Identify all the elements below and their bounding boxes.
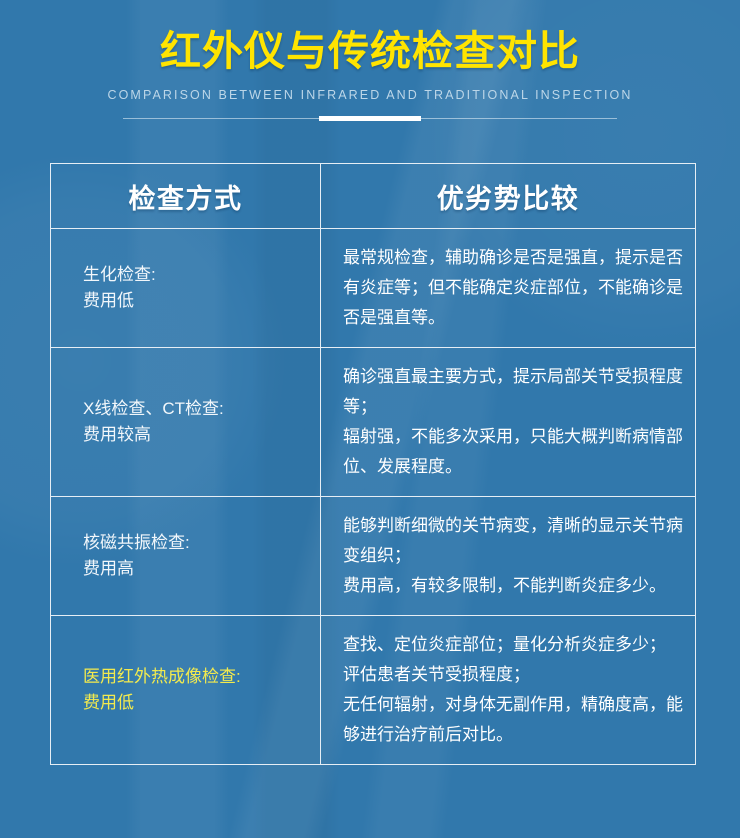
cell-method: 生化检查:费用低: [51, 229, 321, 348]
page-header: 红外仪与传统检查对比 COMPARISON BETWEEN INFRARED A…: [0, 0, 740, 121]
pros-line: 查找、定位炎症部位；量化分析炎症多少；: [343, 630, 683, 660]
pros-line: 费用高，有较多限制，不能判断炎症多少。: [343, 571, 683, 601]
comparison-table-container: 检查方式 优劣势比较 生化检查:费用低最常规检查，辅助确诊是否是强直，提示是否有…: [50, 163, 695, 765]
method-line: X线检查、CT检查:: [83, 396, 320, 422]
cell-pros-cons: 查找、定位炎症部位；量化分析炎症多少；评估患者关节受损程度；无任何辐射，对身体无…: [321, 616, 696, 765]
comparison-table: 检查方式 优劣势比较 生化检查:费用低最常规检查，辅助确诊是否是强直，提示是否有…: [50, 163, 696, 765]
pros-line: 评估患者关节受损程度；: [343, 660, 683, 690]
cell-method: 核磁共振检查:费用高: [51, 497, 321, 616]
cell-method: X线检查、CT检查:费用较高: [51, 348, 321, 497]
pros-line: 无任何辐射，对身体无副作用，精确度高，能够进行治疗前后对比。: [343, 690, 683, 750]
page-title: 红外仪与传统检查对比: [0, 26, 740, 76]
column-header-pros-cons: 优劣势比较: [321, 164, 696, 229]
page-subtitle: COMPARISON BETWEEN INFRARED AND TRADITIO…: [0, 87, 740, 103]
table-body: 生化检查:费用低最常规检查，辅助确诊是否是强直，提示是否有炎症等；但不能确定炎症…: [51, 229, 696, 765]
method-line: 费用高: [83, 556, 320, 582]
infographic-page: 红外仪与传统检查对比 COMPARISON BETWEEN INFRARED A…: [0, 0, 740, 838]
divider-center-bar: [319, 116, 421, 121]
cell-pros-cons: 最常规检查，辅助确诊是否是强直，提示是否有炎症等；但不能确定炎症部位，不能确诊是…: [321, 229, 696, 348]
table-row: X线检查、CT检查:费用较高确诊强直最主要方式，提示局部关节受损程度等；辐射强，…: [51, 348, 696, 497]
method-line: 费用低: [83, 288, 320, 314]
pros-line: 辐射强，不能多次采用，只能大概判断病情部位、发展程度。: [343, 422, 683, 482]
pros-line: 最常规检查，辅助确诊是否是强直，提示是否有炎症等；但不能确定炎症部位，不能确诊是…: [343, 243, 683, 333]
table-row: 医用红外热成像检查:费用低查找、定位炎症部位；量化分析炎症多少；评估患者关节受损…: [51, 616, 696, 765]
method-line: 费用较高: [83, 422, 320, 448]
pros-line: 能够判断细微的关节病变，清晰的显示关节病变组织；: [343, 511, 683, 571]
method-line: 医用红外热成像检查:: [83, 664, 320, 690]
method-line: 费用低: [83, 690, 320, 716]
table-row: 核磁共振检查:费用高能够判断细微的关节病变，清晰的显示关节病变组织；费用高，有较…: [51, 497, 696, 616]
table-header-row: 检查方式 优劣势比较: [51, 164, 696, 229]
table-row: 生化检查:费用低最常规检查，辅助确诊是否是强直，提示是否有炎症等；但不能确定炎症…: [51, 229, 696, 348]
header-divider: [123, 116, 617, 121]
cell-pros-cons: 确诊强直最主要方式，提示局部关节受损程度等；辐射强，不能多次采用，只能大概判断病…: [321, 348, 696, 497]
cell-pros-cons: 能够判断细微的关节病变，清晰的显示关节病变组织；费用高，有较多限制，不能判断炎症…: [321, 497, 696, 616]
column-header-method: 检查方式: [51, 164, 321, 229]
cell-method: 医用红外热成像检查:费用低: [51, 616, 321, 765]
table-head: 检查方式 优劣势比较: [51, 164, 696, 229]
method-line: 生化检查:: [83, 262, 320, 288]
method-line: 核磁共振检查:: [83, 530, 320, 556]
pros-line: 确诊强直最主要方式，提示局部关节受损程度等；: [343, 362, 683, 422]
